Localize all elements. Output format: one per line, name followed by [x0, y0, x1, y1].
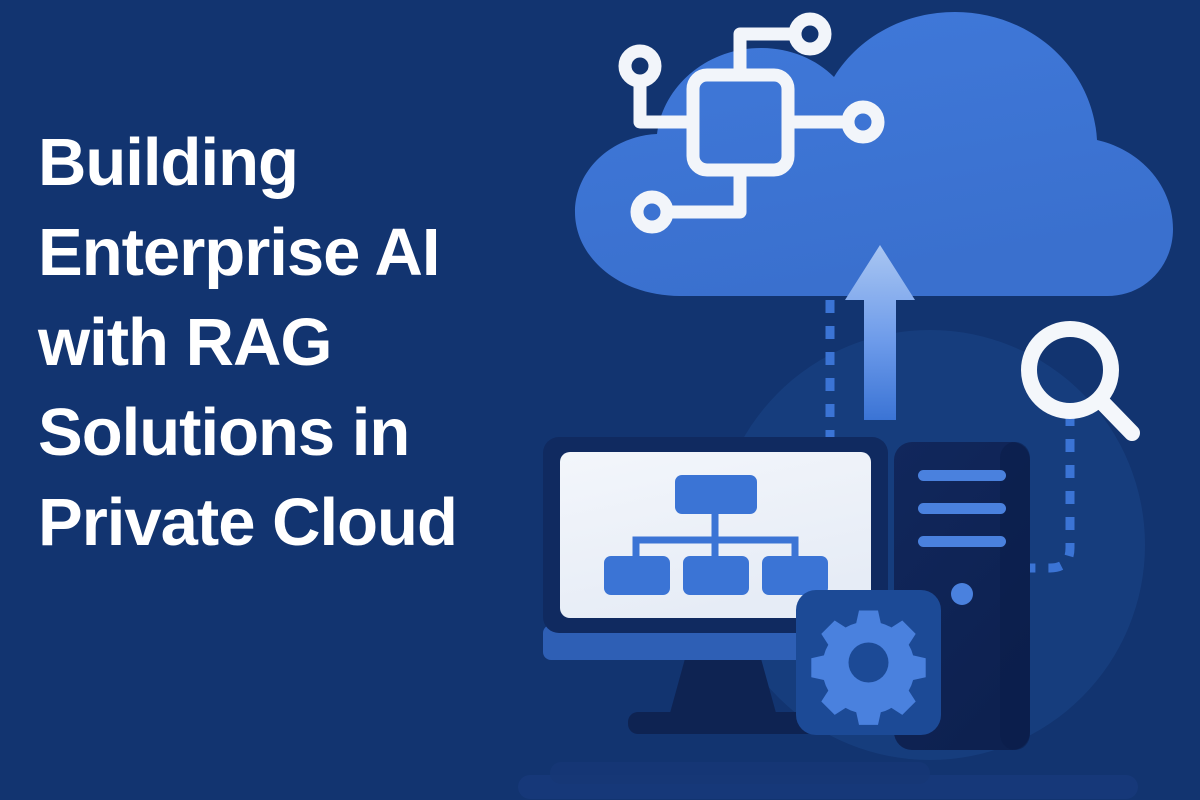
circuit-node-top-right-icon	[795, 19, 825, 49]
settings-gear-card[interactable]	[796, 590, 941, 735]
monitor-base	[628, 712, 818, 734]
gear-icon	[811, 611, 925, 725]
cloud-architecture-illustration	[500, 0, 1200, 800]
poster-canvas: Building Enterprise AI with RAG Solution…	[0, 0, 1200, 800]
circuit-node-left-icon	[625, 51, 655, 81]
monitor-stand	[670, 655, 776, 713]
server-slot-3	[918, 536, 1006, 547]
title-line-2: Enterprise AI	[38, 208, 558, 298]
ground-shadow	[518, 762, 1138, 799]
cloud-shape	[575, 12, 1173, 296]
page-title: Building Enterprise AI with RAG Solution…	[38, 118, 558, 568]
server-slot-2	[918, 503, 1006, 514]
title-line-3: with RAG	[38, 298, 558, 388]
title-line-4: Solutions in	[38, 388, 558, 478]
hierarchy-child-node-2	[683, 556, 749, 595]
hierarchy-child-node-3	[762, 556, 828, 595]
hierarchy-child-node-1	[604, 556, 670, 595]
server-slot-1	[918, 470, 1006, 481]
title-line-1: Building	[38, 118, 558, 208]
title-line-5: Private Cloud	[38, 478, 558, 568]
server-power-button-icon[interactable]	[951, 583, 973, 605]
hierarchy-parent-node	[675, 475, 757, 514]
